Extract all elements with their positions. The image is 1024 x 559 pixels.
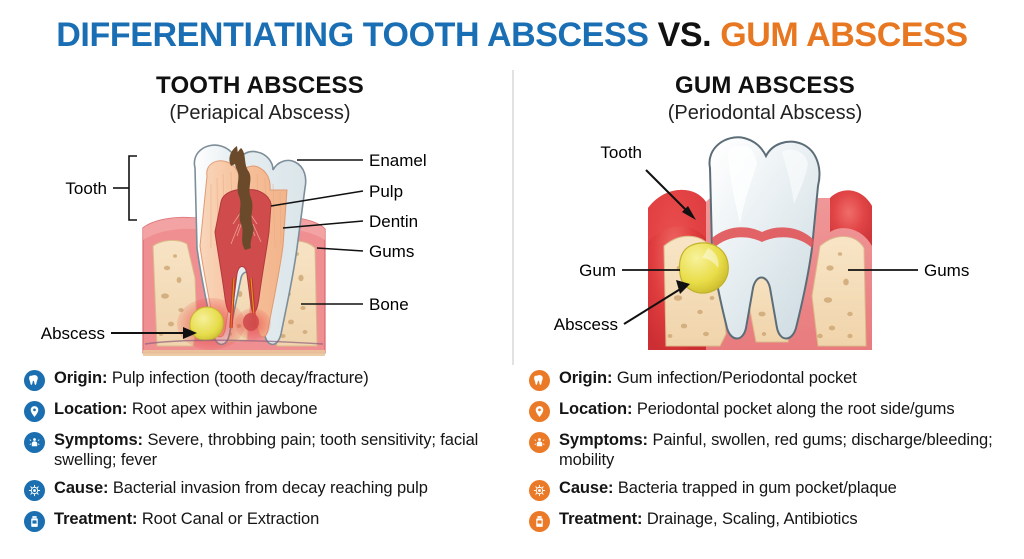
fact-value: Root Canal or Extraction	[142, 510, 319, 528]
callout-enamel: Enamel	[297, 151, 427, 170]
fact-row-location: Location: Root apex within jawbone	[24, 399, 504, 422]
left-panel-subheading: (Periapical Abscess)	[25, 102, 495, 125]
fact-label: Cause:	[54, 479, 108, 497]
gum-abscess-diagram: Tooth Gum Abscess Gums	[530, 128, 1000, 363]
label-abscess-left: Abscess	[41, 324, 105, 343]
fact-row-location: Location: Periodontal pocket along the r…	[529, 399, 1009, 422]
gum-abscess-facts: Origin: Gum infection/Periodontal pocket…	[529, 368, 1009, 540]
fact-row-origin: Origin: Pulp infection (tooth decay/frac…	[24, 368, 504, 391]
fact-text: Treatment: Drainage, Scaling, Antibiotic…	[559, 509, 858, 529]
fact-label: Treatment:	[54, 510, 137, 528]
fact-text: Location: Root apex within jawbone	[54, 399, 317, 419]
fact-text: Origin: Pulp infection (tooth decay/frac…	[54, 368, 369, 388]
fact-text: Symptoms: Severe, throbbing pain; tooth …	[54, 430, 504, 470]
fact-row-cause: Cause: Bacterial invasion from decay rea…	[24, 478, 504, 501]
fact-text: Treatment: Root Canal or Extraction	[54, 509, 319, 529]
fact-text: Cause: Bacteria trapped in gum pocket/pl…	[559, 478, 897, 498]
fact-label: Symptoms:	[54, 431, 143, 449]
fact-value: Bacteria trapped in gum pocket/plaque	[618, 479, 897, 497]
tooth-abscess-diagram: Tooth Abscess Enamel Pulp Dentin	[25, 128, 495, 363]
fact-label: Cause:	[559, 479, 613, 497]
title-segment-orange: GUM ABSCESS	[720, 16, 967, 54]
fact-label: Origin:	[54, 369, 107, 387]
location-icon	[24, 401, 45, 422]
symptoms-icon	[24, 432, 45, 453]
fact-value: Periodontal pocket along the root side/g…	[637, 400, 955, 418]
fact-label: Treatment:	[559, 510, 642, 528]
label-gum-right: Gum	[579, 261, 616, 280]
fact-row-treatment: Treatment: Root Canal or Extraction	[24, 509, 504, 532]
fact-value: Bacterial invasion from decay reaching p…	[113, 479, 428, 497]
fact-value: Drainage, Scaling, Antibiotics	[647, 510, 858, 528]
location-icon	[529, 401, 550, 422]
callout-tooth-left: Tooth	[65, 156, 137, 220]
page-title: DIFFERENTIATING TOOTH ABSCESS VS. GUM AB…	[0, 16, 1024, 55]
fact-row-symptoms: Symptoms: Painful, swollen, red gums; di…	[529, 430, 1009, 470]
panel-divider	[512, 70, 514, 365]
fact-value: Root apex within jawbone	[132, 400, 318, 418]
fact-row-treatment: Treatment: Drainage, Scaling, Antibiotic…	[529, 509, 1009, 532]
bacteria-icon	[24, 480, 45, 501]
tooth-abscess-facts: Origin: Pulp infection (tooth decay/frac…	[24, 368, 504, 540]
symptoms-icon	[529, 432, 550, 453]
fact-text: Symptoms: Painful, swollen, red gums; di…	[559, 430, 1009, 470]
label-dentin: Dentin	[369, 212, 418, 231]
fact-text: Cause: Bacterial invasion from decay rea…	[54, 478, 428, 498]
right-panel-header: GUM ABSCESS (Periodontal Abscess)	[530, 72, 1000, 125]
right-panel-subheading: (Periodontal Abscess)	[530, 102, 1000, 125]
medicine-icon	[24, 511, 45, 532]
label-tooth-left: Tooth	[65, 179, 107, 198]
fact-value: Pulp infection (tooth decay/fracture)	[112, 369, 369, 387]
fact-row-cause: Cause: Bacteria trapped in gum pocket/pl…	[529, 478, 1009, 501]
fact-label: Location:	[54, 400, 127, 418]
fact-value: Gum infection/Periodontal pocket	[617, 369, 857, 387]
fact-row-origin: Origin: Gum infection/Periodontal pocket	[529, 368, 1009, 391]
fact-text: Origin: Gum infection/Periodontal pocket	[559, 368, 857, 388]
tooth-icon	[24, 370, 45, 391]
label-gums-right: Gums	[924, 261, 969, 280]
label-pulp: Pulp	[369, 182, 403, 201]
right-panel-heading: GUM ABSCESS	[530, 72, 1000, 100]
left-panel-header: TOOTH ABSCESS (Periapical Abscess)	[25, 72, 495, 125]
fact-label: Symptoms:	[559, 431, 648, 449]
label-gums-left: Gums	[369, 242, 414, 261]
medicine-icon	[529, 511, 550, 532]
bacteria-icon	[529, 480, 550, 501]
label-enamel: Enamel	[369, 151, 427, 170]
label-tooth-right: Tooth	[600, 143, 642, 162]
fact-row-symptoms: Symptoms: Severe, throbbing pain; tooth …	[24, 430, 504, 470]
left-panel-heading: TOOTH ABSCESS	[25, 72, 495, 100]
title-segment-vs: VS.	[658, 16, 721, 54]
label-abscess-right: Abscess	[554, 315, 618, 334]
fact-label: Location:	[559, 400, 632, 418]
fact-text: Location: Periodontal pocket along the r…	[559, 399, 954, 419]
callout-gums: Gums	[317, 242, 414, 261]
title-segment-blue: DIFFERENTIATING TOOTH ABSCESS	[56, 16, 657, 54]
infographic-page: DIFFERENTIATING TOOTH ABSCESS VS. GUM AB…	[0, 0, 1024, 559]
label-bone: Bone	[369, 295, 409, 314]
tooth-icon	[529, 370, 550, 391]
fact-label: Origin:	[559, 369, 612, 387]
